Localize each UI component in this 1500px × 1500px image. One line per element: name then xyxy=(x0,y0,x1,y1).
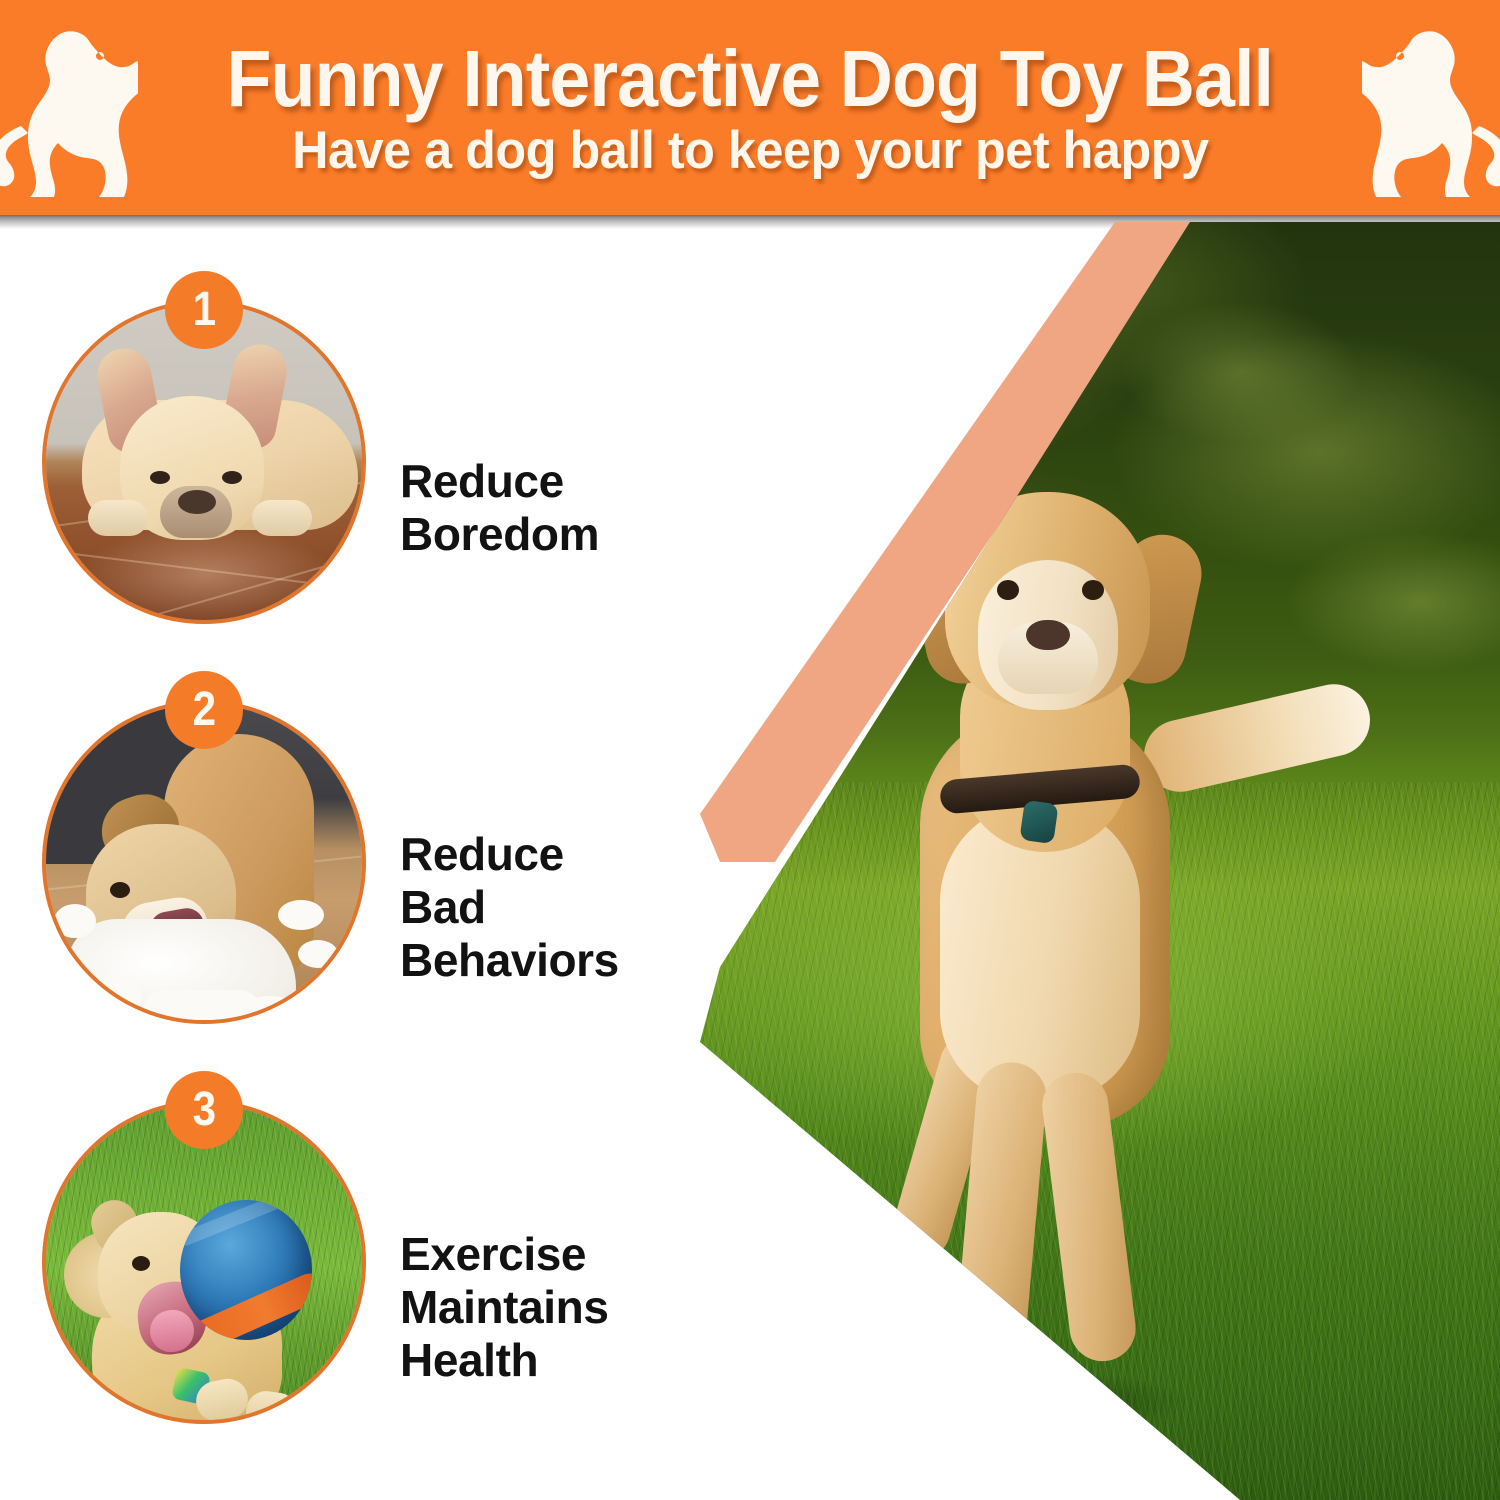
feature-1-number: 1 xyxy=(192,286,215,334)
feature-3-photo-wrap: 3 xyxy=(42,1100,366,1424)
feature-2-label: Reduce Bad Behaviors xyxy=(400,828,619,987)
page-subtitle: Have a dog ball to keep your pet happy xyxy=(292,123,1208,179)
infographic-page: 1 Reduce Boredom xyxy=(0,0,1500,1500)
dog-tag-icon xyxy=(1019,800,1058,844)
feature-2-photo-wrap: 2 xyxy=(42,700,366,1024)
page-title: Funny Interactive Dog Toy Ball xyxy=(227,37,1274,121)
blue-ball-icon xyxy=(180,1200,312,1340)
feature-3-label: Exercise Maintains Health xyxy=(400,1228,609,1387)
feature-2-number: 2 xyxy=(192,686,215,734)
dog-tail-icon xyxy=(1137,677,1377,799)
header-banner: Funny Interactive Dog Toy Ball Have a do… xyxy=(0,0,1500,215)
feature-3-number-badge: 3 xyxy=(165,1071,243,1149)
feature-1-photo-wrap: 1 xyxy=(42,300,366,624)
feature-1-number-badge: 1 xyxy=(165,271,243,349)
hero-artwork xyxy=(600,222,1500,1500)
feature-1-label: Reduce Boredom xyxy=(400,455,599,561)
feature-2-number-badge: 2 xyxy=(165,671,243,749)
feature-3-number: 3 xyxy=(192,1086,215,1134)
